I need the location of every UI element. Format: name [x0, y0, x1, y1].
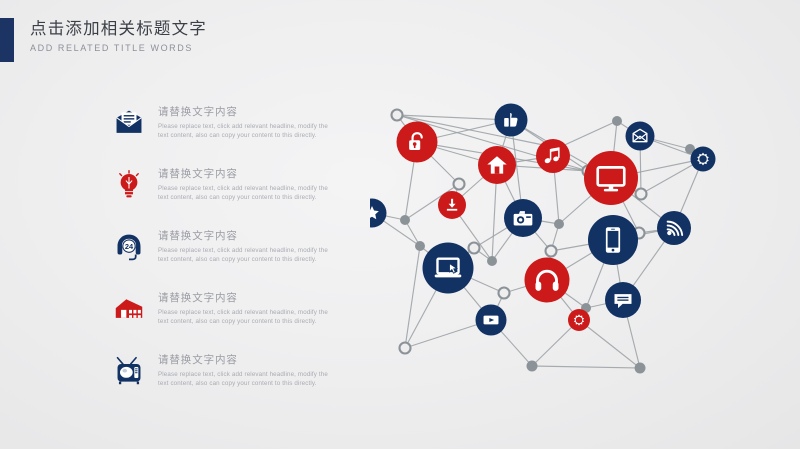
graph-icon-node[interactable] [397, 122, 438, 163]
feature-heading: 请替换文字内容 [158, 105, 352, 119]
feature-text: 请替换文字内容 Please replace text, click add r… [158, 228, 352, 264]
graph-icon-node[interactable] [504, 199, 542, 237]
video-play-icon [484, 316, 499, 325]
graph-node [487, 256, 497, 266]
graph-icon-node[interactable] [536, 139, 570, 173]
network-graph [370, 88, 800, 440]
house-icon [112, 292, 146, 326]
graph-icon-node[interactable] [525, 258, 570, 303]
title-block: 点击添加相关标题文字 ADD RELATED TITLE WORDS [30, 18, 207, 55]
graph-node [400, 343, 411, 354]
graph-icon-node[interactable] [495, 104, 528, 137]
graph-node [392, 110, 403, 121]
smartphone-icon [606, 227, 620, 253]
graph-icon-node[interactable] [370, 199, 387, 228]
feature-item[interactable]: 请替换文字内容 Please replace text, click add r… [112, 290, 352, 344]
graph-node [554, 219, 564, 229]
graph-icon-node[interactable] [438, 191, 466, 219]
feature-body: Please replace text, click add relevant … [158, 122, 340, 140]
feature-body: Please replace text, click add relevant … [158, 246, 340, 264]
graph-link [405, 246, 420, 348]
graph-node [636, 189, 647, 200]
slide-canvas: 点击添加相关标题文字 ADD RELATED TITLE WORDS 请替换文字… [0, 0, 800, 449]
graph-node [415, 241, 425, 251]
feature-item[interactable]: 请替换文字内容 Please replace text, click add r… [112, 166, 352, 220]
graph-icon-node[interactable] [423, 243, 474, 294]
graph-icon-node[interactable] [588, 215, 638, 265]
title-accent-bar [0, 18, 14, 62]
graph-icon-node[interactable] [626, 122, 655, 151]
graph-link [558, 121, 617, 148]
feature-body: Please replace text, click add relevant … [158, 308, 340, 326]
page-header: 点击添加相关标题文字 ADD RELATED TITLE WORDS [0, 18, 207, 62]
feature-body: Please replace text, click add relevant … [158, 370, 340, 388]
graph-node [546, 246, 557, 257]
graph-node [400, 215, 410, 225]
graph-link [397, 115, 511, 120]
page-subtitle: ADD RELATED TITLE WORDS [30, 41, 207, 55]
graph-node [527, 361, 538, 372]
feature-list: 请替换文字内容 Please replace text, click add r… [112, 104, 352, 414]
graph-node [612, 116, 622, 126]
graph-icon-node[interactable] [584, 151, 638, 205]
feature-item[interactable]: 请替换文字内容 Please replace text, click add r… [112, 104, 352, 158]
feature-heading: 请替换文字内容 [158, 291, 352, 305]
graph-node [454, 179, 465, 190]
graph-icon-node[interactable] [568, 309, 590, 331]
feature-item[interactable]: 24 请替换文字内容 Please replace text, click ad… [112, 228, 352, 282]
feature-text: 请替换文字内容 Please replace text, click add r… [158, 104, 352, 140]
graph-icon-node[interactable] [691, 147, 716, 172]
feature-text: 请替换文字内容 Please replace text, click add r… [158, 166, 352, 202]
feature-heading: 请替换文字内容 [158, 353, 352, 367]
support-24-icon: 24 [112, 230, 146, 264]
television-icon [112, 354, 146, 388]
graph-icon-node[interactable] [478, 146, 516, 184]
envelope-icon [112, 106, 146, 140]
graph-icon-node[interactable] [657, 211, 691, 245]
graph-node [635, 363, 646, 374]
graph-node-disc [584, 151, 638, 205]
feature-body: Please replace text, click add relevant … [158, 184, 340, 202]
gear-center [576, 317, 583, 324]
graph-node [499, 288, 510, 299]
svg-text:24: 24 [125, 242, 134, 251]
lightbulb-icon [112, 168, 146, 202]
page-title: 点击添加相关标题文字 [30, 19, 207, 39]
graph-link [532, 366, 640, 368]
gear-center [699, 155, 707, 163]
graph-node-disc [423, 243, 474, 294]
feature-heading: 请替换文字内容 [158, 167, 352, 181]
feature-heading: 请替换文字内容 [158, 229, 352, 243]
graph-node-disc [536, 139, 570, 173]
graph-node [469, 243, 480, 254]
feature-text: 请替换文字内容 Please replace text, click add r… [158, 352, 352, 388]
feature-item[interactable]: 请替换文字内容 Please replace text, click add r… [112, 352, 352, 406]
graph-icon-node[interactable] [476, 305, 507, 336]
feature-text: 请替换文字内容 Please replace text, click add r… [158, 290, 352, 326]
graph-icon-node[interactable] [605, 282, 641, 318]
graph-node-disc [525, 258, 570, 303]
graph-link [579, 320, 640, 368]
